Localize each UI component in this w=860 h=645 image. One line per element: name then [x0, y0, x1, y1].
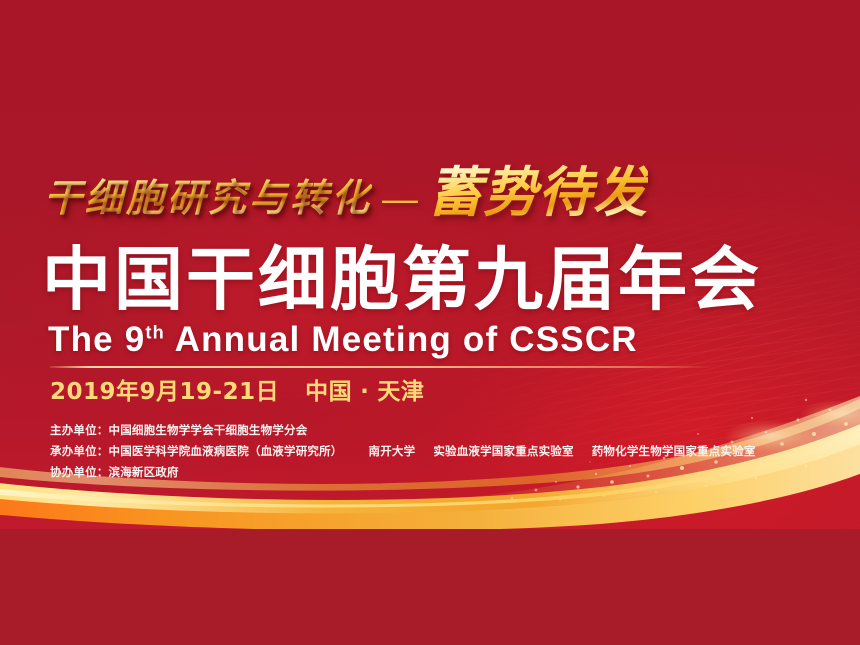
organizer-entry: 南开大学	[369, 444, 416, 458]
subtitle-before: The 9	[48, 320, 145, 359]
organizer-entry: 中国医学科学院血液病医院（血液学研究所）	[109, 444, 343, 458]
organizer-entry: 中国细胞生物学学会干细胞生物学分会	[109, 423, 308, 437]
poster-content: 干细胞研究与转化—蓄势待发 中国干细胞第九届年会 The 9th Annual …	[0, 0, 860, 529]
organizer-label-undertaker: 承办单位：	[50, 444, 109, 458]
organizer-row-undertaker: 承办单位：中国医学科学院血液病医院（血液学研究所）南开大学实验血液学国家重点实验…	[50, 441, 756, 462]
separator-dot: ·	[360, 379, 369, 405]
tagline-part2: 蓄势待发	[428, 163, 648, 223]
tagline: 干细胞研究与转化—蓄势待发	[44, 172, 648, 226]
organizer-entry: 药物化学生物学国家重点实验室	[592, 444, 756, 458]
subtitle-ordinal: th	[145, 322, 165, 342]
organizer-entry: 实验血液学国家重点实验室	[433, 444, 573, 458]
page-subtitle-english: The 9th Annual Meeting of CSSCR	[48, 322, 638, 357]
event-city: 天津	[377, 379, 424, 405]
organizer-label-host: 主办单位：	[50, 423, 109, 437]
divider-rule	[50, 366, 715, 368]
conference-poster: 干细胞研究与转化—蓄势待发 中国干细胞第九届年会 The 9th Annual …	[0, 0, 860, 645]
organizer-entry: 滨海新区政府	[109, 465, 179, 479]
event-date: 2019年9月19-21日	[50, 379, 279, 405]
subtitle-after: Annual Meeting of CSSCR	[165, 320, 638, 359]
tagline-dash: —	[382, 181, 418, 217]
organizer-row-host: 主办单位：中国细胞生物学学会干细胞生物学分会	[50, 420, 756, 441]
organizer-label-cohost: 协办单位：	[50, 465, 109, 479]
page-title: 中国干细胞第九届年会	[42, 246, 762, 315]
event-country: 中国	[305, 379, 352, 405]
date-location-line: 2019年9月19-21日中国·天津	[50, 381, 424, 404]
tagline-part1: 干细胞研究与转化	[44, 178, 372, 220]
organizer-row-cohost: 协办单位：滨海新区政府	[50, 462, 756, 483]
footer-solid-band	[0, 529, 860, 645]
organizer-list: 主办单位：中国细胞生物学学会干细胞生物学分会 承办单位：中国医学科学院血液病医院…	[50, 420, 756, 483]
